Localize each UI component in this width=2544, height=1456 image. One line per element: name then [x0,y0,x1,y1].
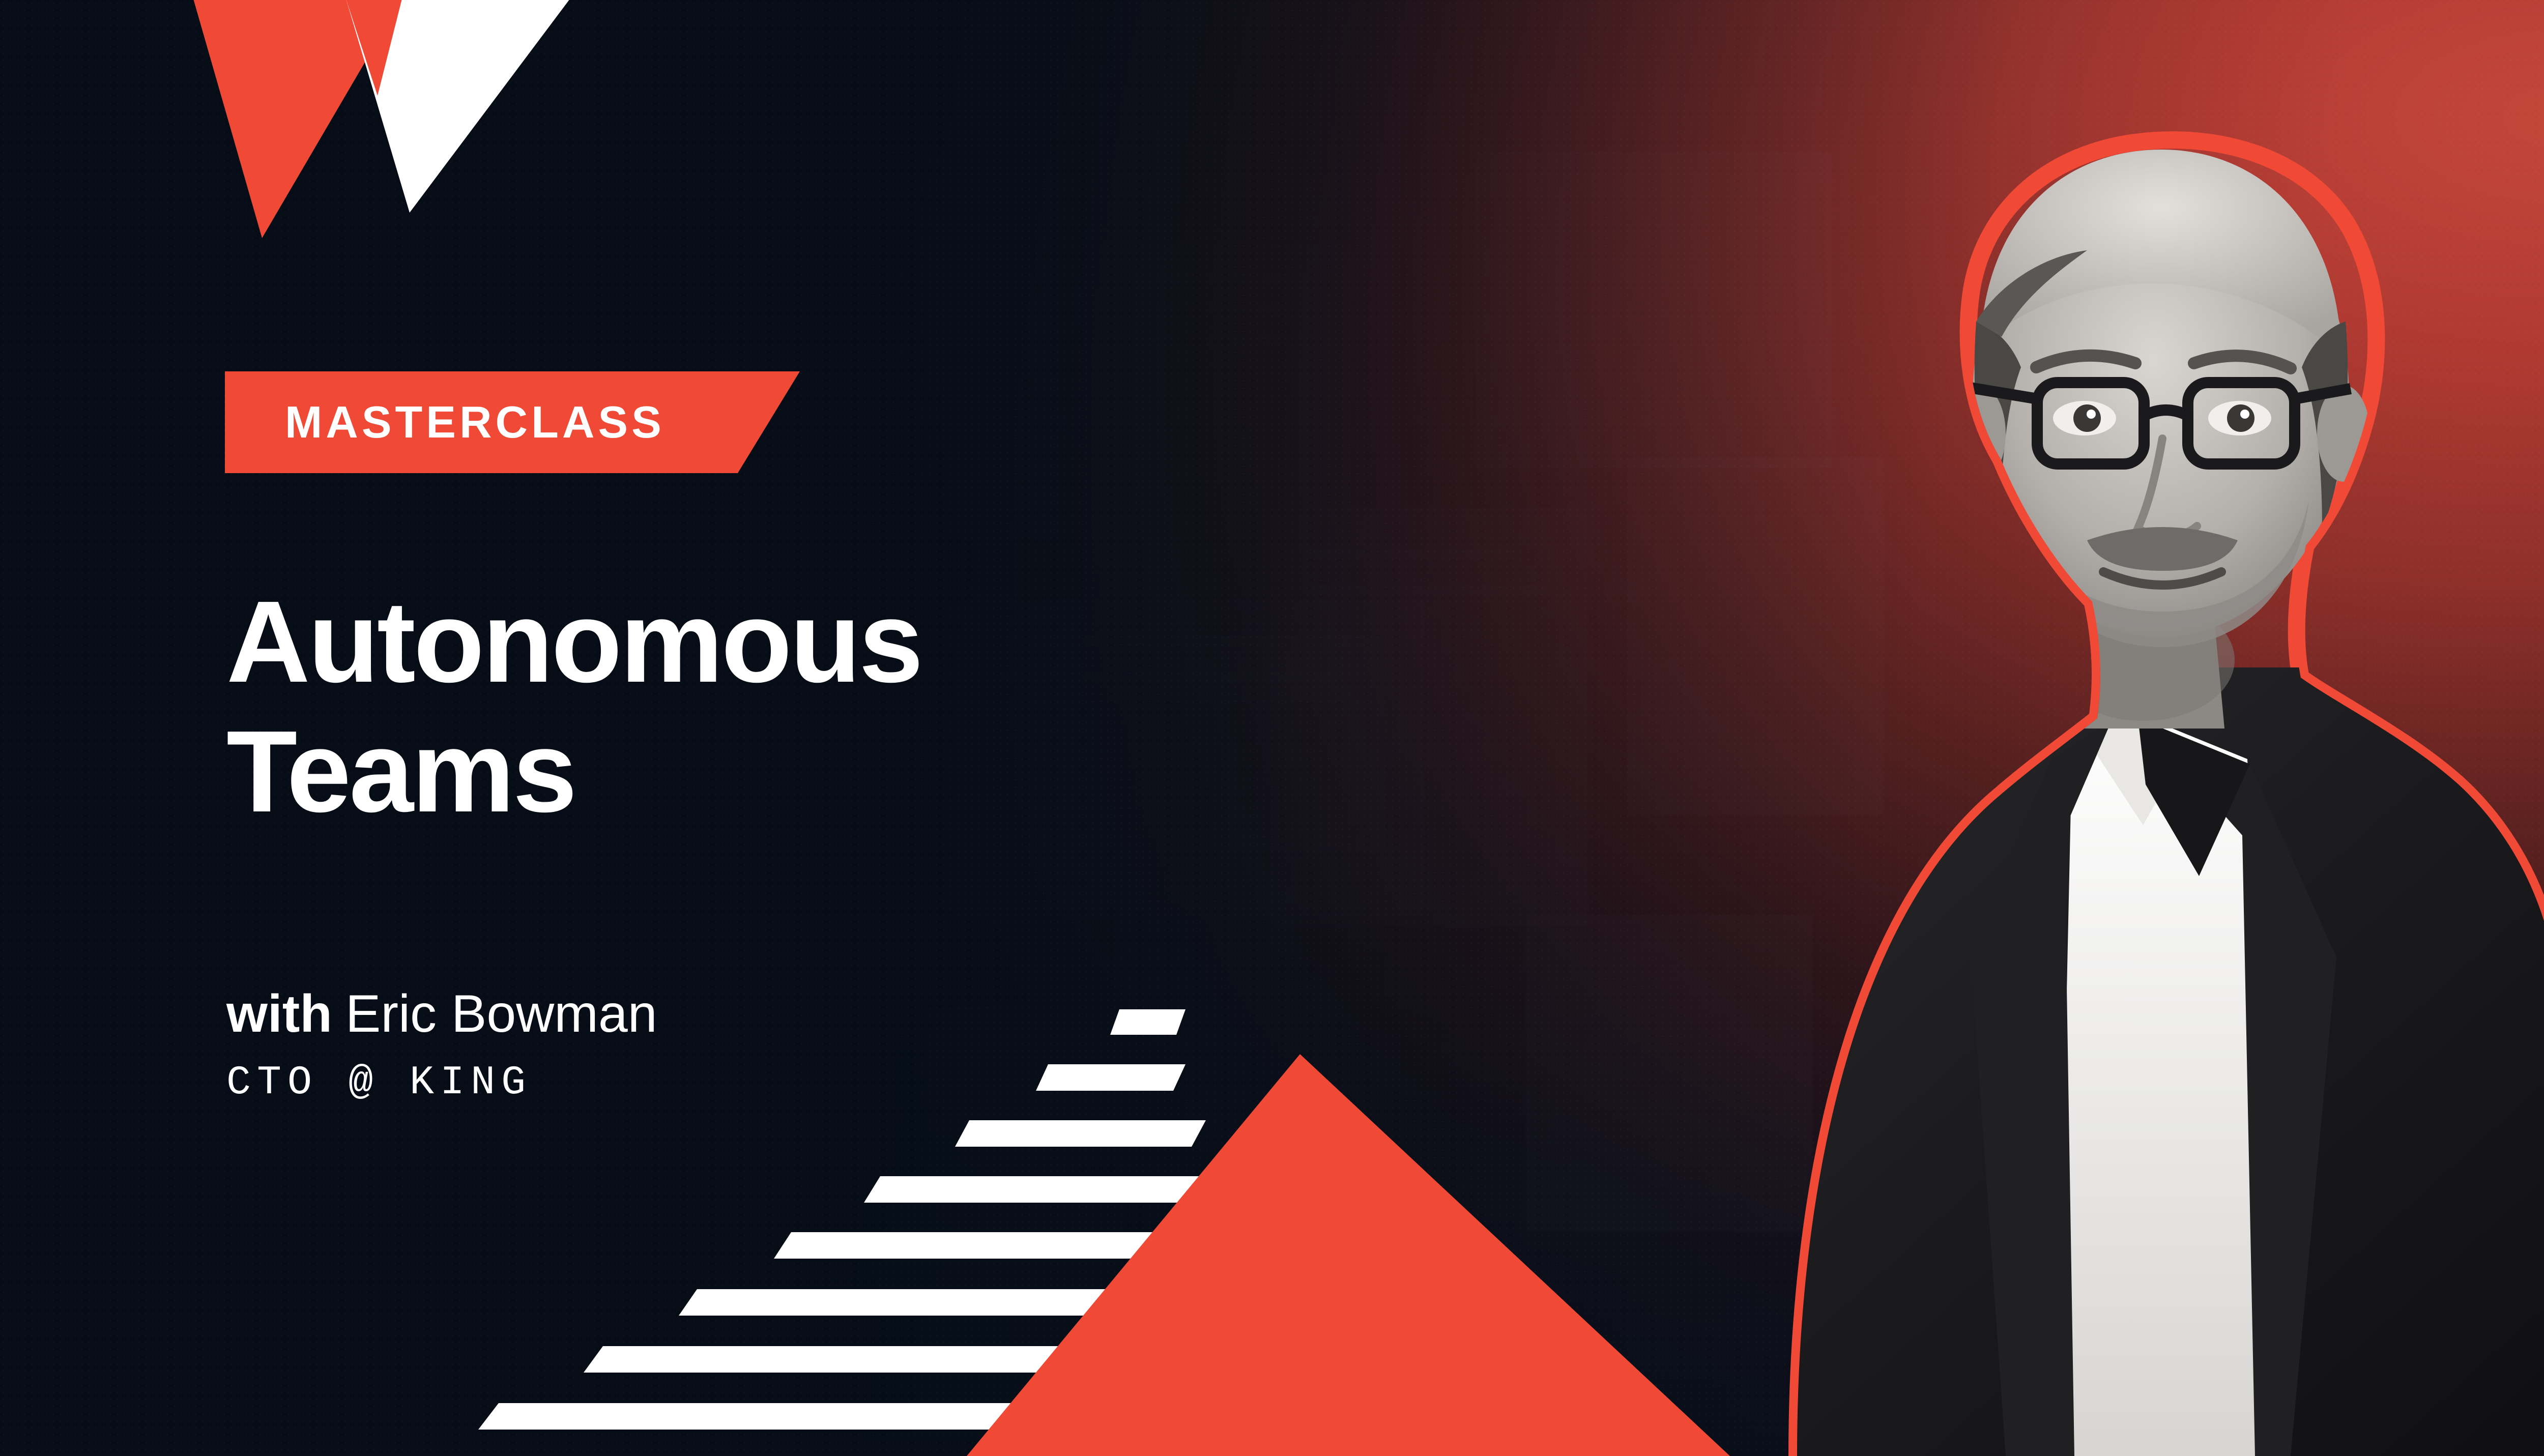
masterclass-promo-banner: MASTERCLASS Autonomous Teams with Eric B… [0,0,2544,1456]
speaker-portrait [1614,82,2544,1456]
masterclass-badge: MASTERCLASS [225,371,800,473]
page-title-line-1: Autonomous [226,577,1346,707]
stripe [1110,1009,1186,1035]
page-title-line-2: Teams [226,707,1346,837]
page-title: Autonomous Teams [226,577,1346,837]
masterclass-badge-label: MASTERCLASS [225,371,800,473]
chevron-v-logo [193,0,570,238]
